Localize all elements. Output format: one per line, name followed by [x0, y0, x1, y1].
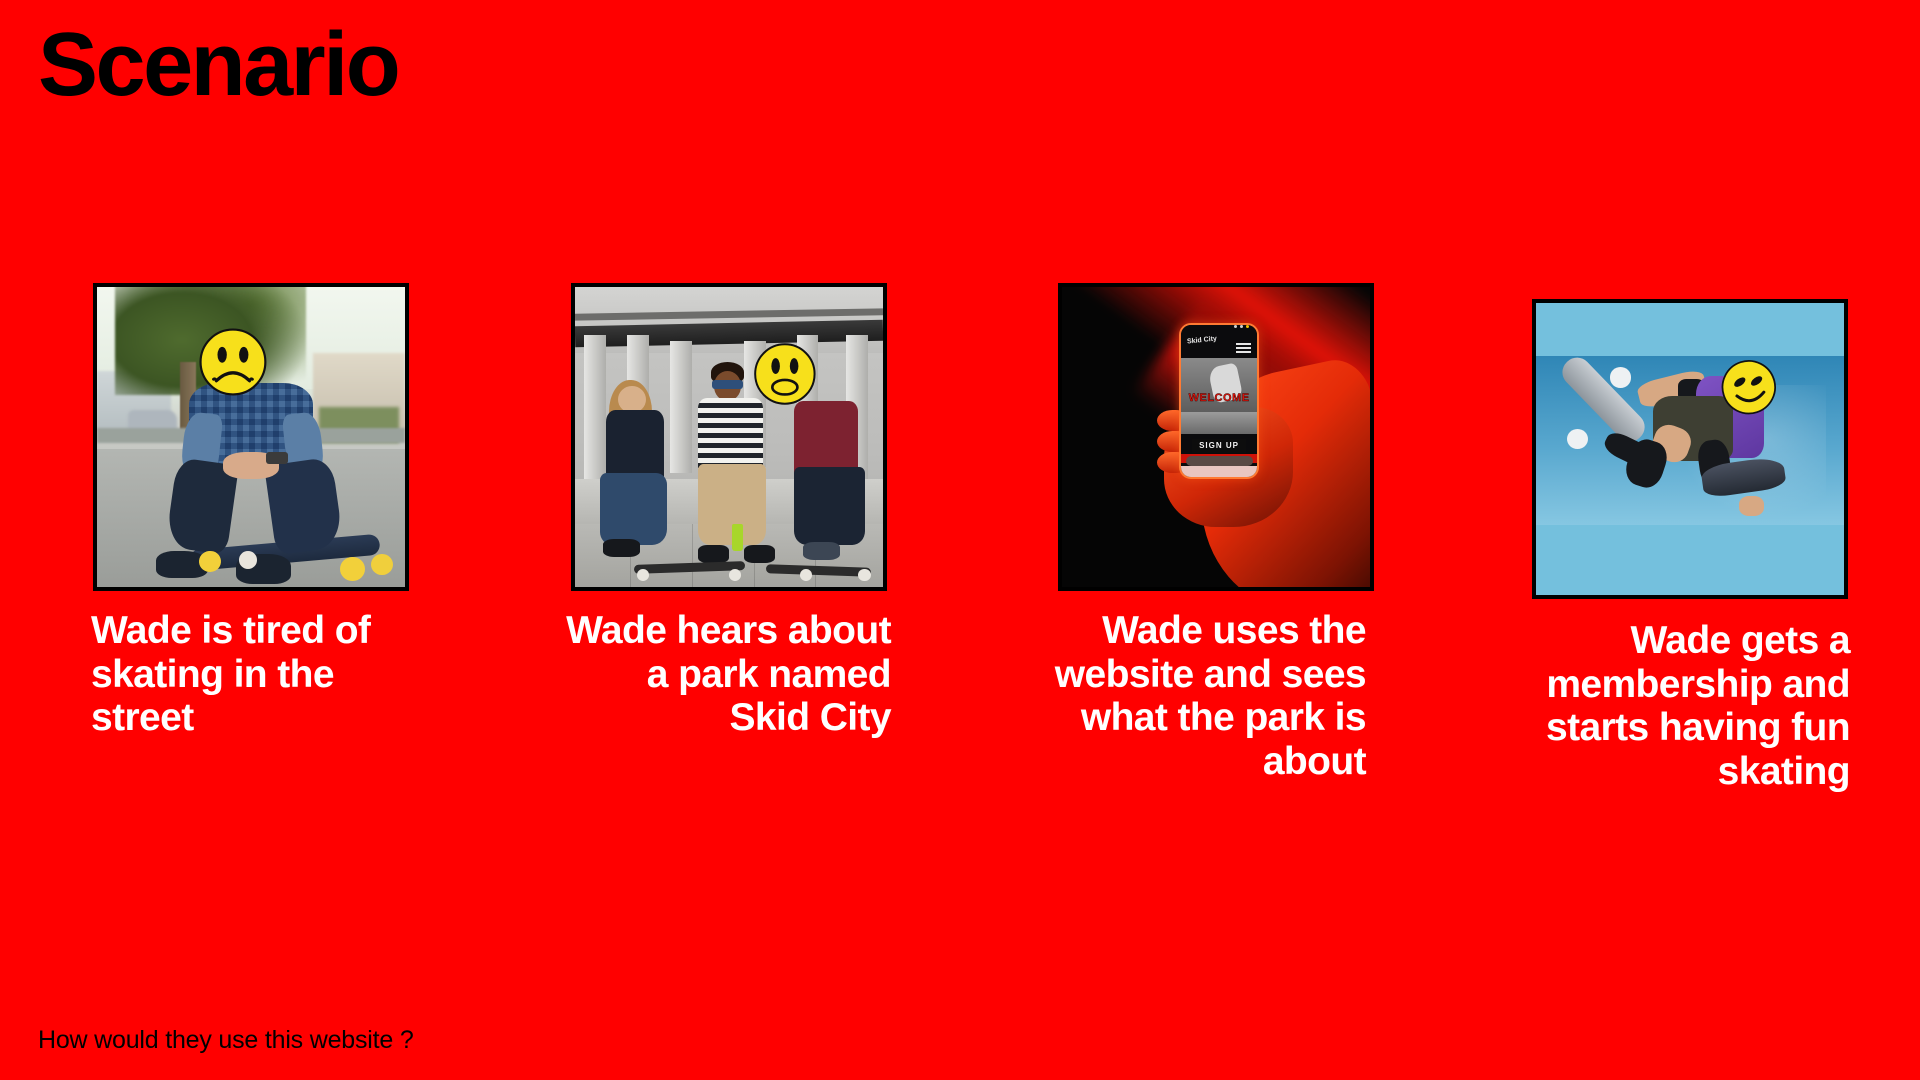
- scenario-step-4: Wade gets a membership and starts having…: [1532, 283, 1852, 794]
- scenario-step-3: Skid City WELCOME SIGN UP Wade uses: [1058, 283, 1378, 784]
- step-2-caption: Wade hears about a park named Skid City: [561, 609, 891, 740]
- footer-question: How would they use this website ?: [38, 1026, 414, 1055]
- skid-city-logo: Skid City: [1187, 336, 1218, 346]
- hamburger-menu-icon[interactable]: [1236, 343, 1251, 357]
- step-2-image-frame: [571, 283, 887, 591]
- step-1-caption: Wade is tired of skating in the street: [91, 609, 421, 740]
- step-4-image-frame: [1532, 299, 1848, 599]
- phone-in-hand-photo: Skid City WELCOME SIGN UP: [1062, 287, 1370, 587]
- winking-smiley-emoji: [1718, 358, 1780, 416]
- step-1-image-frame: [93, 283, 409, 591]
- step-3-caption: Wade uses the website and sees what the …: [1036, 609, 1366, 784]
- scenario-step-1: Wade is tired of skating in the street: [93, 283, 413, 740]
- phone-mockup: Skid City WELCOME SIGN UP: [1179, 323, 1259, 479]
- sign-up-button[interactable]: SIGN UP: [1192, 439, 1247, 453]
- sad-face-emoji: [196, 326, 270, 398]
- surprised-face-emoji: [751, 341, 819, 407]
- browser-toolbar[interactable]: [1181, 466, 1257, 477]
- airborne-skater-photo: [1536, 303, 1844, 595]
- scenario-slide: Scenario: [0, 0, 1920, 1080]
- phone-hero-headline: WELCOME: [1181, 392, 1257, 404]
- skaters-group-photo: [575, 287, 883, 587]
- step-4-caption: Wade gets a membership and starts having…: [1520, 619, 1850, 794]
- scenario-step-2: Wade hears about a park named Skid City: [571, 283, 891, 740]
- page-title: Scenario: [38, 18, 398, 113]
- step-3-image-frame: Skid City WELCOME SIGN UP: [1058, 283, 1374, 591]
- browser-url-bar[interactable]: [1186, 456, 1253, 467]
